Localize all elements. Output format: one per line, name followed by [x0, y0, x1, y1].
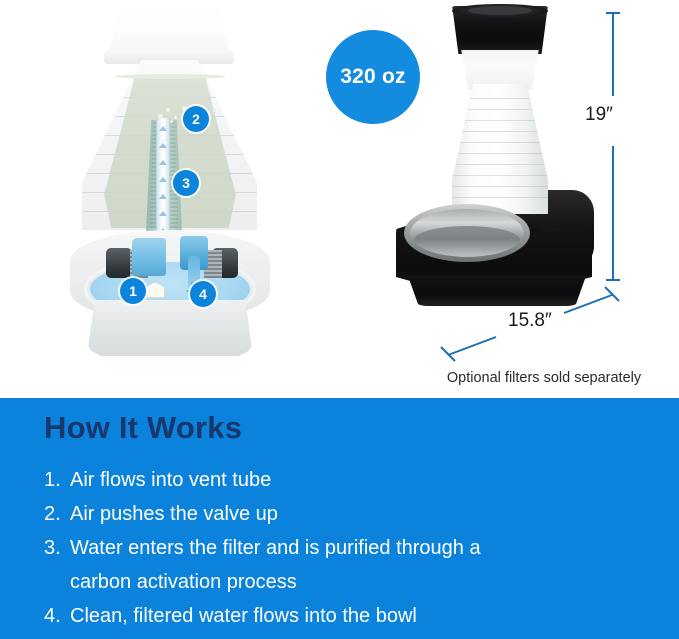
callout-badge-3: 3 [173, 170, 199, 196]
callout-badge-4: 4 [190, 281, 216, 307]
filters-caption: Optional filters sold separately [419, 370, 669, 386]
product-photo [390, 4, 605, 324]
step-item: 1.Air flows into vent tube [44, 464, 644, 496]
step-text: Air flows into vent tube [70, 464, 271, 496]
height-dim-line-lower [612, 146, 614, 281]
step-item: 4.Clean, filtered water flows into the b… [44, 600, 644, 632]
step-text: Air pushes the valve up [70, 498, 278, 530]
step-item: 2.Air pushes the valve up [44, 498, 644, 530]
valve-housing-left [132, 238, 166, 276]
product-reservoir-ribs [452, 84, 548, 214]
callout-badge-1: 1 [120, 278, 146, 304]
callout-badge-3-label: 3 [182, 175, 190, 191]
height-dimension-label: 19″ [585, 104, 613, 126]
step-item: 3.Water enters the filter and is purifie… [44, 532, 644, 564]
step-text: Clean, filtered water flows into the bow… [70, 600, 417, 632]
step-number: 3. [44, 532, 70, 564]
callout-badge-2-label: 2 [192, 111, 200, 127]
cutaway-diagram: 2 3 1 4 [60, 0, 310, 360]
callout-badge-4-label: 4 [199, 286, 207, 302]
step-number [44, 566, 70, 598]
step-number: 1. [44, 464, 70, 496]
callout-badge-1-label: 1 [129, 283, 137, 299]
callout-badge-2: 2 [183, 106, 209, 132]
filter-clip-left [106, 248, 132, 278]
step-number: 2. [44, 498, 70, 530]
how-it-works-banner: How It Works 1.Air flows into vent tube2… [0, 398, 679, 639]
width-dimension-label: 15.8″ [508, 310, 552, 332]
steps-list: 1.Air flows into vent tube2.Air pushes t… [44, 464, 644, 634]
infographic-page: 2 3 1 4 320 oz [0, 0, 679, 639]
step-number: 4. [44, 600, 70, 632]
height-dim-cap-bottom [606, 279, 620, 281]
product-cap-opening [468, 6, 532, 15]
height-dim-line-upper [612, 12, 614, 96]
product-illustration-area: 2 3 1 4 320 oz [0, 0, 679, 398]
water-surface [114, 74, 226, 79]
base-pedestal [88, 300, 252, 356]
dispenser-neck [108, 2, 230, 56]
banner-heading: How It Works [44, 410, 242, 446]
step-text: Water enters the filter and is purified … [70, 532, 481, 564]
step-text: carbon activation process [70, 566, 297, 598]
step-item: carbon activation process [44, 566, 644, 598]
product-bowl-shadow [414, 226, 520, 254]
